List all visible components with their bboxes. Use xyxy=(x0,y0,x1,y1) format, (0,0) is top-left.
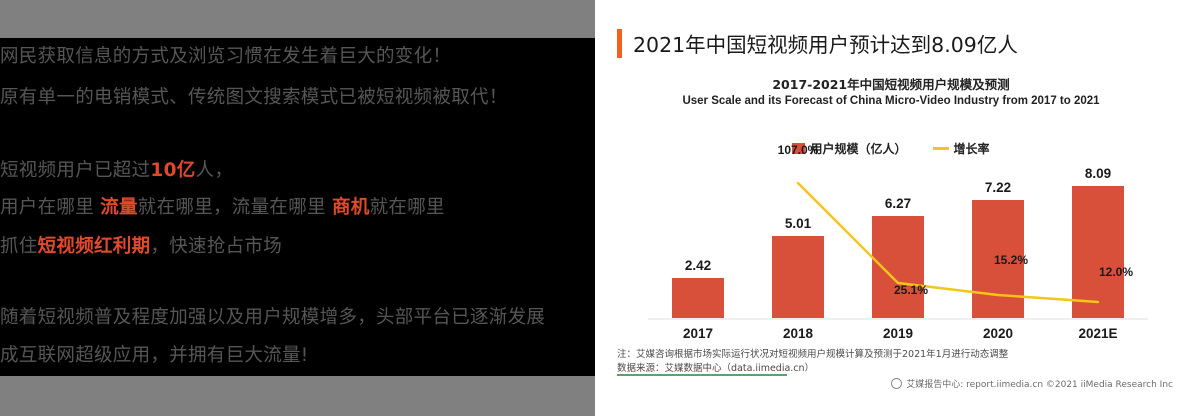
plain-phrase: 原有单一的电销模式、传统图文搜索模式已被短视频被取代！ xyxy=(0,87,508,108)
footer-divider xyxy=(617,374,787,376)
plain-phrase: 就在哪里 xyxy=(370,197,445,218)
chart-subtitle-cn: 2017-2021年中国短视频用户规模及预测 xyxy=(595,74,1187,93)
plain-phrase: 就在哪里，流量在哪里 xyxy=(138,197,332,218)
x-tick-2019: 2019 xyxy=(858,326,938,341)
bar-value-label-2017: 2.42 xyxy=(663,258,733,273)
growth-rate-label-2018: 107.0% xyxy=(768,143,828,157)
legend-label-line-series: 增长率 xyxy=(954,140,990,157)
circle-logo-icon xyxy=(891,378,902,389)
plain-phrase: 抓住 xyxy=(0,236,38,257)
footer-credit-text: 艾媒报告中心: report.iimedia.cn ©2021 iiMedia … xyxy=(906,377,1173,390)
legend-item-line-series[interactable]: 增长率 xyxy=(933,140,990,157)
footer-credit: 艾媒报告中心: report.iimedia.cn ©2021 iiMedia … xyxy=(891,377,1173,390)
x-tick-2018: 2018 xyxy=(758,326,838,341)
bar-value-label-2021E: 8.09 xyxy=(1063,166,1133,181)
highlight-phrase: 流量 xyxy=(100,197,138,218)
plain-phrase: ，快速抢占市场 xyxy=(150,236,282,257)
slide-page: 网民获取信息的方式及浏览习惯在发生着巨大的变化！ 原有单一的电销模式、传统图文搜… xyxy=(0,0,1187,416)
black-content-board: 网民获取信息的方式及浏览习惯在发生着巨大的变化！ 原有单一的电销模式、传统图文搜… xyxy=(0,38,595,376)
x-tick-2020: 2020 xyxy=(958,326,1038,341)
plain-phrase: 用户在哪里 xyxy=(0,197,100,218)
marketing-line-5: 抓住短视频红利期，快速抢占市场 xyxy=(0,232,282,258)
marketing-line-2: 原有单一的电销模式、传统图文搜索模式已被短视频被取代！ xyxy=(0,83,508,109)
highlight-phrase: 短视频红利期 xyxy=(38,236,151,257)
highlight-phrase: 商机 xyxy=(332,197,370,218)
growth-rate-label-2019: 25.1% xyxy=(881,283,941,297)
plain-phrase: 人， xyxy=(196,160,234,181)
plain-phrase: 随着短视频普及程度加强以及用户规模增多，头部平台已逐渐发展 xyxy=(0,307,545,328)
footnote-note: 注：艾媒咨询根据市场实际运行状况对短视频用户规模计算及预测于2021年1月进行动… xyxy=(617,346,1008,360)
page-title: 2021年中国短视频用户预计达到8.09亿人 xyxy=(633,28,1018,58)
growth-rate-label-2020: 15.2% xyxy=(981,253,1041,267)
chart-subtitle-en: User Scale and its Forecast of China Mic… xyxy=(595,95,1187,107)
marketing-line-4: 用户在哪里 流量就在哪里，流量在哪里 商机就在哪里 xyxy=(0,193,445,219)
growth-rate-label-2021E: 12.0% xyxy=(1086,265,1146,279)
marketing-line-3: 短视频用户已超过10亿人， xyxy=(0,156,233,182)
plain-phrase: 网民获取信息的方式及浏览习惯在发生着巨大的变化！ xyxy=(0,46,451,67)
highlight-phrase: 10亿 xyxy=(150,160,195,181)
plain-phrase: 短视频用户已超过 xyxy=(0,160,150,181)
bar-value-label-2019: 6.27 xyxy=(863,196,933,211)
left-text-panel: 网民获取信息的方式及浏览习惯在发生着巨大的变化！ 原有单一的电销模式、传统图文搜… xyxy=(0,0,595,416)
chart-legend: 用户规模（亿人） 增长率 xyxy=(595,140,1187,157)
chart-plot-area: 2.425.016.277.228.09107.0%25.1%15.2%12.0… xyxy=(648,165,1148,320)
title-accent-bar xyxy=(617,29,622,58)
report-title-row: 2021年中国短视频用户预计达到8.09亿人 xyxy=(617,28,1018,58)
x-tick-2017: 2017 xyxy=(658,326,738,341)
legend-swatch-line-icon xyxy=(933,147,949,150)
report-panel: 2021年中国短视频用户预计达到8.09亿人 2017-2021年中国短视频用户… xyxy=(595,0,1187,416)
x-tick-2021E: 2021E xyxy=(1058,326,1138,341)
marketing-line-1: 网民获取信息的方式及浏览习惯在发生着巨大的变化！ xyxy=(0,42,451,68)
bar-value-label-2018: 5.01 xyxy=(763,216,833,231)
plain-phrase: 成互联网超级应用，并拥有巨大流量! xyxy=(0,345,309,366)
bar-value-label-2020: 7.22 xyxy=(963,180,1033,195)
marketing-line-6: 随着短视频普及程度加强以及用户规模增多，头部平台已逐渐发展 xyxy=(0,303,545,329)
marketing-line-7: 成互联网超级应用，并拥有巨大流量! xyxy=(0,341,309,367)
footnote-source: 数据来源：艾媒数据中心（data.iimedia.cn） xyxy=(617,360,814,374)
